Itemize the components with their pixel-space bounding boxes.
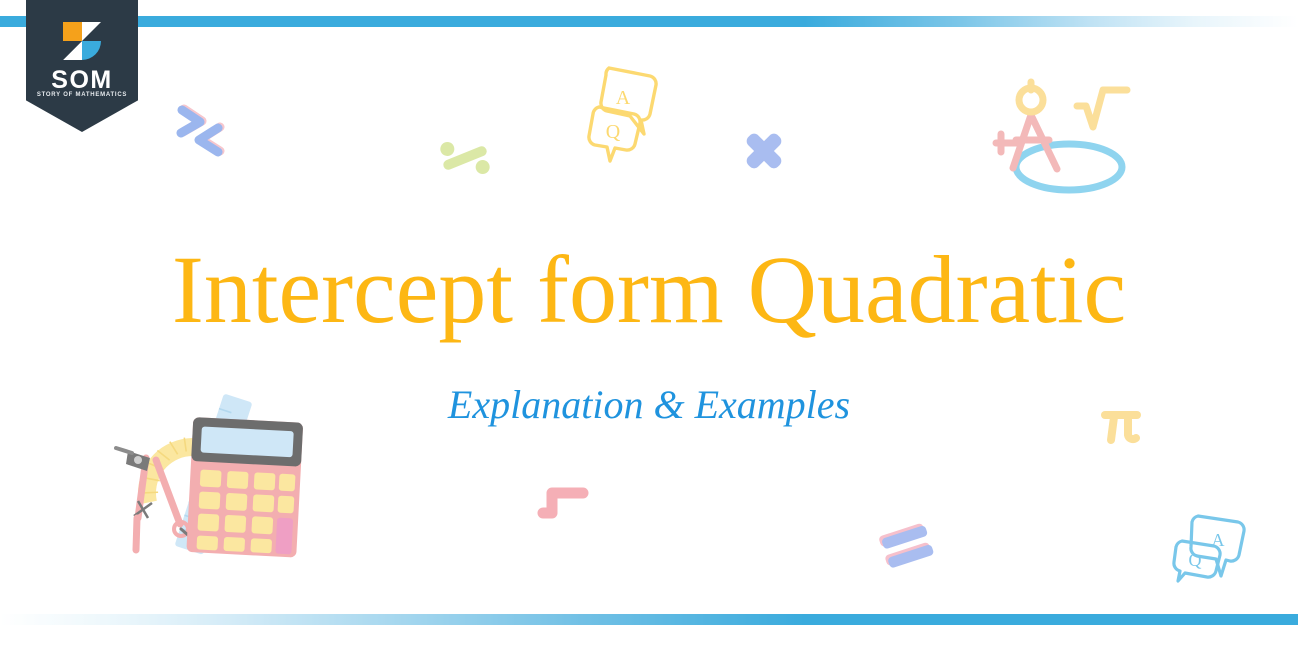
- division-icon: [437, 132, 493, 184]
- svg-text:Q: Q: [606, 121, 621, 143]
- speech-bubbles-question-answer-icon: A Q: [1168, 510, 1254, 592]
- page-title: Intercept form Quadratic: [0, 236, 1298, 344]
- som-logo-mark-icon: [59, 18, 105, 64]
- svg-text:A: A: [616, 87, 631, 109]
- speech-bubbles-answer-question-icon: A Q: [582, 62, 666, 154]
- compass-circle-sqrt-icon: [985, 72, 1145, 198]
- greater-less-than-icon: [172, 102, 234, 162]
- equals-icon: [876, 520, 934, 570]
- svg-text:Q: Q: [1189, 550, 1202, 570]
- som-wordmark: SOM: [26, 68, 138, 93]
- som-tagline: STORY OF MATHEMATICS: [26, 92, 138, 98]
- som-logo-banner[interactable]: SOM STORY OF MATHEMATICS: [26, 0, 138, 132]
- bottom-accent-bar: [0, 614, 1298, 625]
- svg-text:A: A: [1212, 530, 1225, 550]
- multiplication-icon: [740, 128, 788, 174]
- curve-function-icon: [535, 480, 591, 530]
- hero-banner-page: SOM STORY OF MATHEMATICS: [0, 0, 1298, 649]
- page-subtitle: Explanation & Examples: [0, 381, 1298, 428]
- top-accent-bar: [0, 16, 1298, 27]
